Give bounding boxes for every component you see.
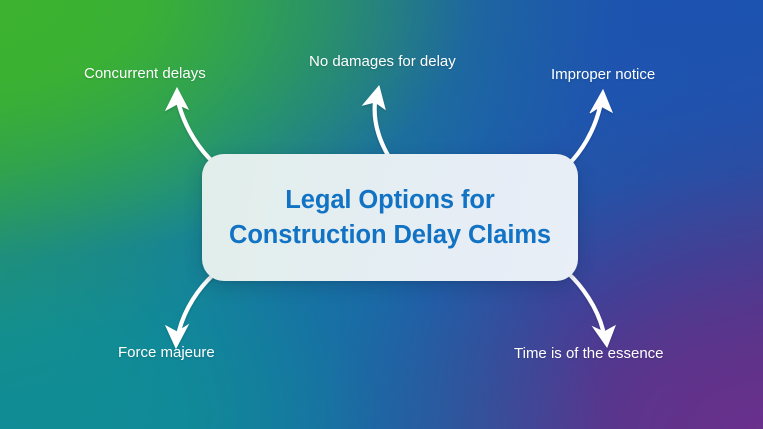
central-topic-card: Legal Options for Construction Delay Cla…	[202, 154, 578, 281]
branch-label-time-is-of-the-essence: Time is of the essence	[514, 345, 664, 363]
curved-arrow-down-left-icon	[166, 275, 213, 348]
curved-arrow-up-icon	[363, 86, 389, 157]
branch-label-improper-notice: Improper notice	[551, 66, 655, 84]
curved-arrow-up-right-icon	[568, 90, 612, 165]
curved-arrow-down-right-icon	[568, 273, 615, 347]
branch-label-concurrent-delays: Concurrent delays	[84, 65, 206, 83]
curved-arrow-up-left-icon	[166, 88, 214, 163]
diagram-canvas: Legal Options for Construction Delay Cla…	[0, 0, 763, 429]
branch-label-no-damages-for-delay: No damages for delay	[309, 53, 456, 71]
branch-label-force-majeure: Force majeure	[118, 344, 215, 362]
central-topic-title: Legal Options for Construction Delay Cla…	[213, 183, 567, 251]
